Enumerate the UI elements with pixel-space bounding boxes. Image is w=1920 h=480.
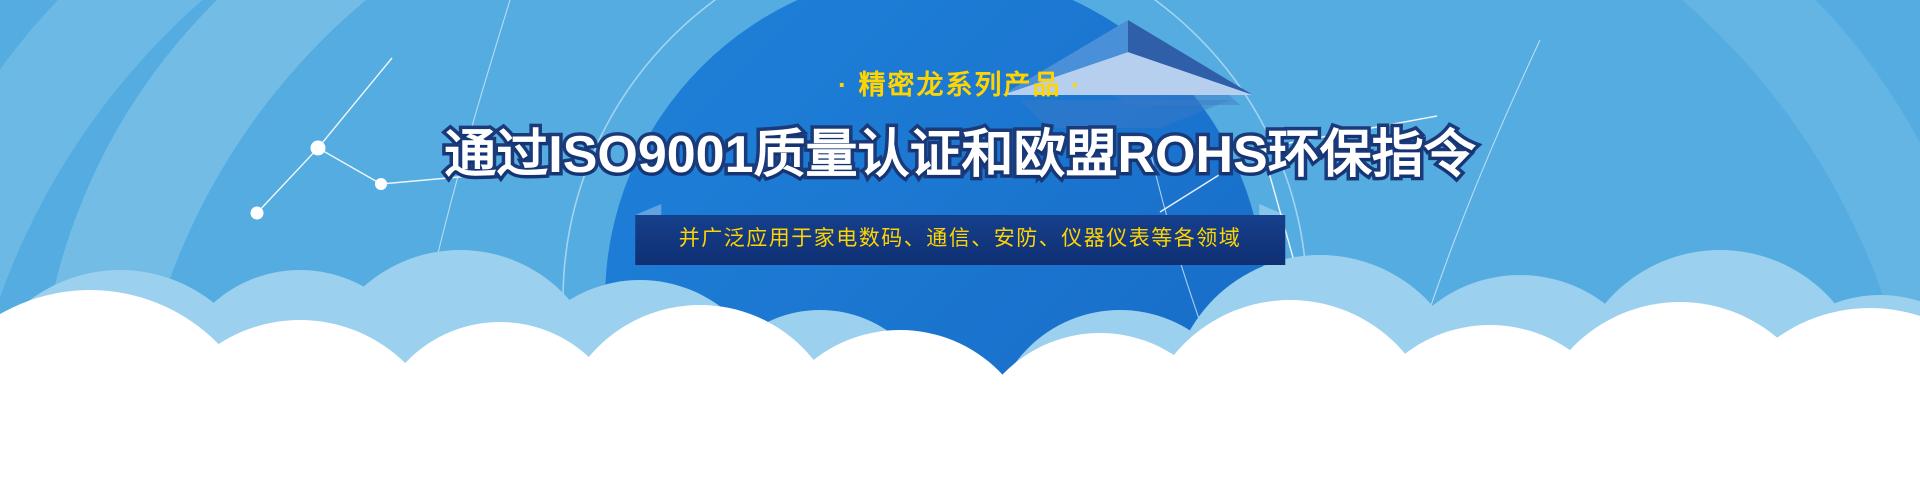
cloud-graphics xyxy=(0,0,1920,480)
promo-banner: · 精密龙系列产品 · 通过ISO9001质量认证和欧盟ROHS环保指令 并广泛… xyxy=(0,0,1920,480)
